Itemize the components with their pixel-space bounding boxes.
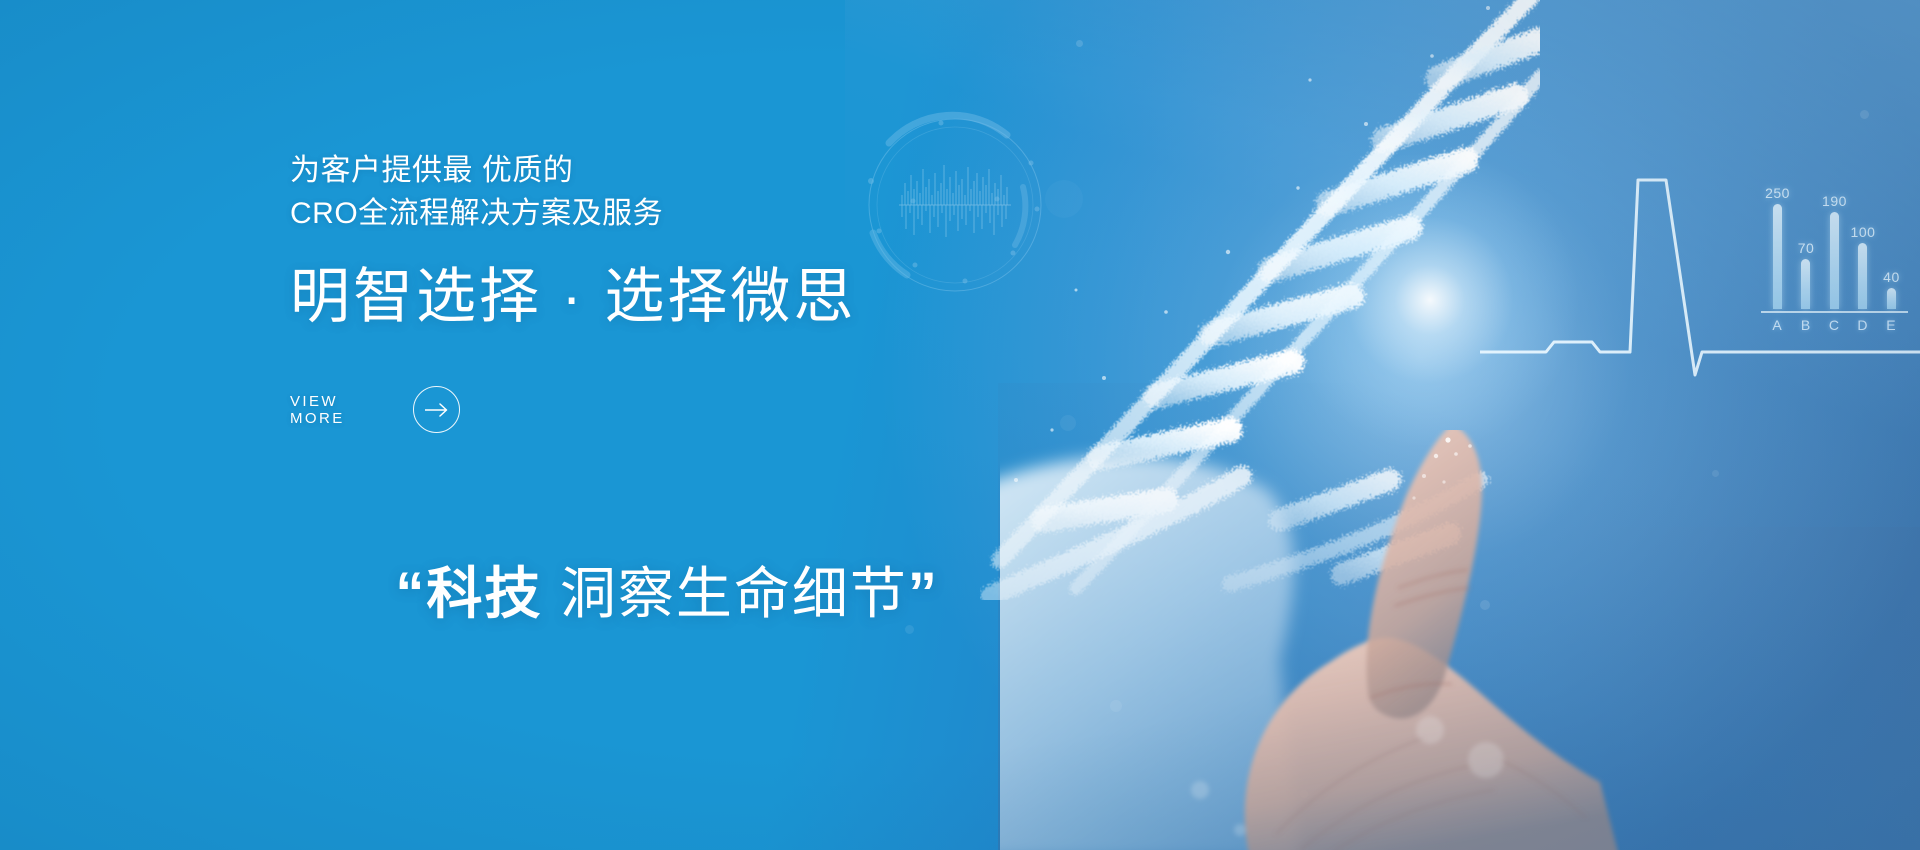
hero-quote: “科技 洞察生命细节” <box>290 495 1050 692</box>
quote-close-mark: ” <box>908 561 939 626</box>
quote-strong-text: 科技 <box>426 562 542 625</box>
hero-subtitle-line-2: CRO全流程解决方案及服务 <box>290 193 1050 236</box>
hero-banner: 250 70 190 100 40 A B C <box>0 0 1920 850</box>
quote-open-mark: “ <box>395 561 426 626</box>
view-more-button[interactable]: VIEW MORE <box>290 386 460 433</box>
hero-headline: 明智选择 · 选择微思 <box>290 263 1050 330</box>
hero-subtitle-line-1: 为客户提供最 优质的 <box>290 150 1050 193</box>
quote-light-text: 洞察生命细节 <box>542 562 908 625</box>
hero-subtitle: 为客户提供最 优质的 CRO全流程解决方案及服务 <box>290 150 1050 235</box>
hero-content: 为客户提供最 优质的 CRO全流程解决方案及服务 明智选择 · 选择微思 VIE… <box>290 150 1050 693</box>
view-more-label: VIEW MORE <box>290 393 391 427</box>
arrow-right-icon[interactable] <box>413 386 460 433</box>
